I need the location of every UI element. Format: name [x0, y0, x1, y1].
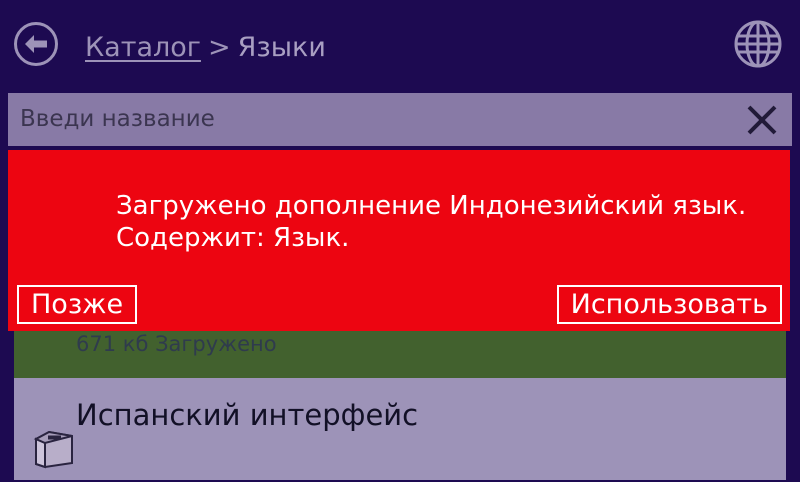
package-box-icon	[32, 426, 76, 470]
app-root: Каталог > Языки	[0, 0, 800, 482]
breadcrumb-separator: >	[208, 32, 231, 63]
globe-icon	[730, 16, 786, 72]
close-x-icon	[744, 102, 780, 138]
dialog-message-line1: Загружено дополнение Индонезийский язык.	[116, 191, 746, 221]
later-button[interactable]: Позже	[17, 285, 137, 324]
breadcrumb-current-languages: Языки	[238, 32, 326, 63]
list-item-title: Испанский интерфейс	[76, 398, 418, 432]
language-globe-button[interactable]	[730, 16, 786, 72]
list-item-spanish-interface[interactable]: Испанский интерфейс	[14, 378, 786, 480]
back-arrow-icon	[23, 33, 49, 55]
addon-downloaded-dialog: Загружено дополнение Индонезийский язык.…	[8, 150, 790, 331]
list-item-status: 671 кб Загружено	[76, 332, 277, 356]
breadcrumb: Каталог > Языки	[85, 27, 326, 67]
header-bar: Каталог > Языки	[0, 0, 800, 88]
dialog-message: Загружено дополнение Индонезийский язык.…	[116, 190, 776, 254]
clear-search-button[interactable]	[744, 102, 780, 138]
search-input[interactable]	[20, 93, 710, 146]
breadcrumb-link-catalog[interactable]: Каталог	[85, 32, 201, 63]
use-button[interactable]: Использовать	[557, 285, 782, 324]
back-button[interactable]	[14, 22, 58, 66]
dialog-message-line2: Содержит: Язык.	[116, 222, 776, 254]
search-bar[interactable]	[8, 93, 792, 146]
